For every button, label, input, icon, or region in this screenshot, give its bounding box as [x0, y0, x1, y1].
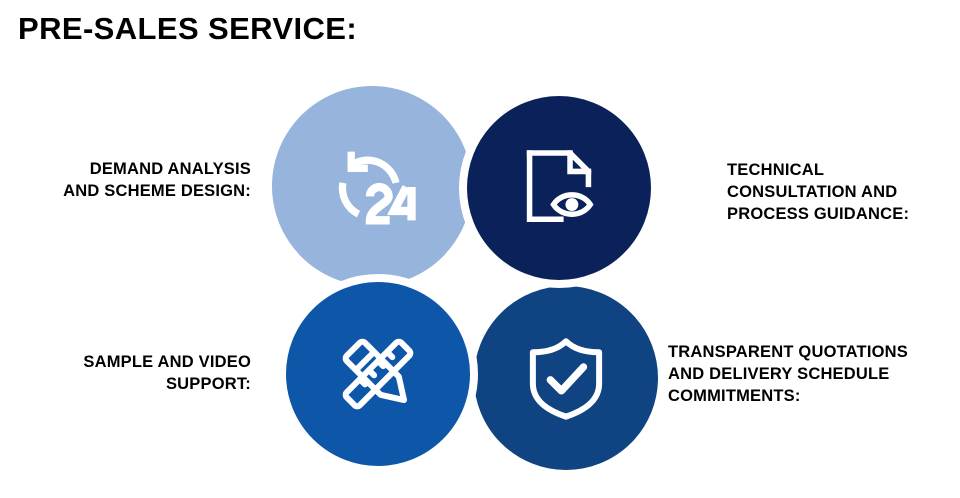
document-eye-icon	[513, 142, 605, 234]
page-title: PRE-SALES SERVICE:	[18, 12, 357, 46]
shield-check-icon	[520, 332, 612, 424]
node-demand-analysis[interactable]	[272, 86, 472, 286]
label-sample-video-support: SAMPLE AND VIDEO SUPPORT:	[0, 352, 251, 396]
circle-cluster	[270, 86, 666, 480]
label-transparent-quotations: TRANSPARENT QUOTATIONS AND DELIVERY SCHE…	[668, 342, 960, 407]
node-sample-video-support[interactable]	[278, 274, 478, 474]
crossed-pens-icon	[332, 328, 424, 420]
node-transparent-quotations[interactable]	[466, 278, 666, 478]
24-hour-rotate-icon	[320, 134, 424, 238]
node-technical-consultation[interactable]	[459, 88, 659, 288]
label-technical-consultation: TECHNICAL CONSULTATION AND PROCESS GUIDA…	[727, 160, 959, 225]
label-demand-analysis: DEMAND ANALYSIS AND SCHEME DESIGN:	[0, 159, 251, 203]
